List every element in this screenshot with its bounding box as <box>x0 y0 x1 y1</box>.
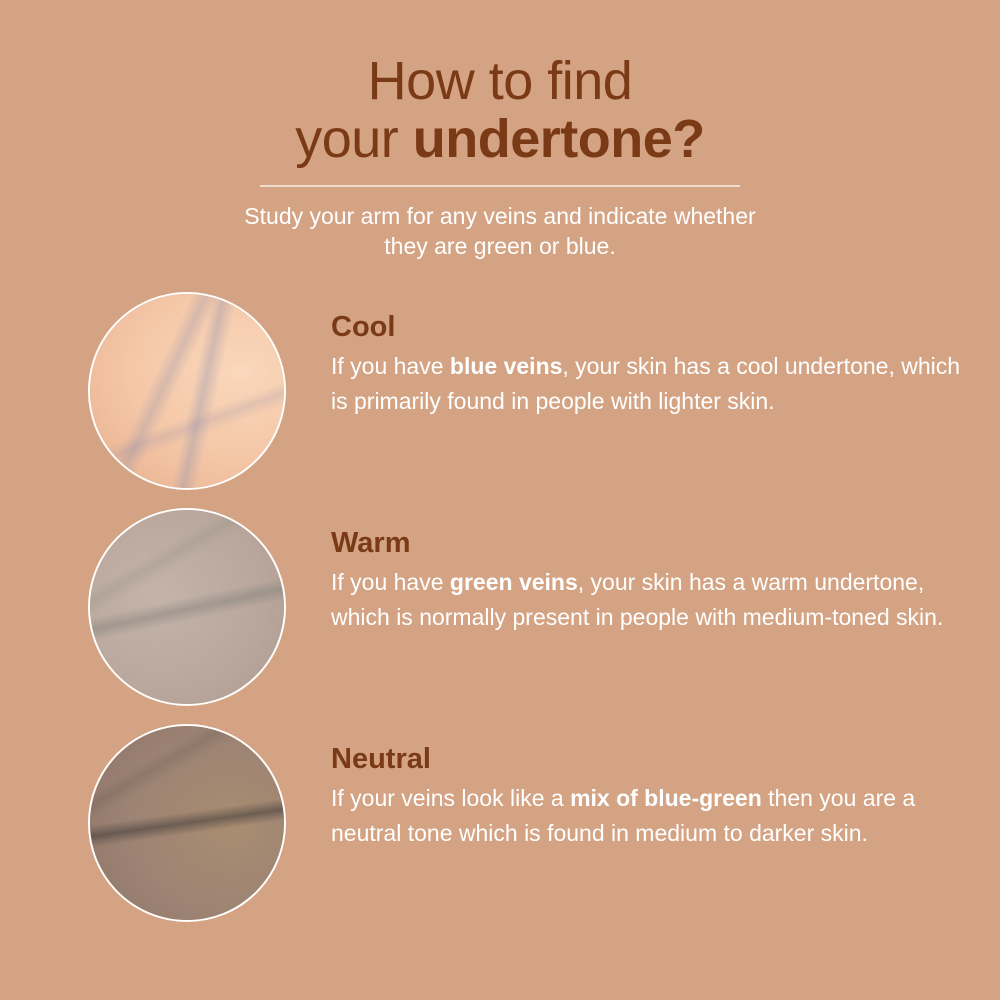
neutral-body-prefix: If your veins look like a <box>331 785 570 811</box>
section-neutral-heading: Neutral <box>331 742 961 777</box>
section-cool-heading: Cool <box>331 310 961 345</box>
skin-swatch-cool <box>88 292 286 490</box>
cool-vein-photo <box>90 294 284 488</box>
section-neutral-text: Neutral If your veins look like a mix of… <box>286 724 961 851</box>
section-neutral-body: If your veins look like a mix of blue-gr… <box>331 781 961 851</box>
page-title-emphasis: undertone? <box>413 109 705 169</box>
page-title-regular: your <box>295 109 413 169</box>
page-title: How to find your undertone? <box>0 52 1000 169</box>
page-subtitle-line-1: Study your arm for any veins and indicat… <box>160 201 840 232</box>
section-warm: Warm If you have green veins, your skin … <box>0 508 1000 708</box>
section-cool-body: If you have blue veins, your skin has a … <box>331 349 961 419</box>
undertone-sections: Cool If you have blue veins, your skin h… <box>0 292 1000 924</box>
section-warm-text: Warm If you have green veins, your skin … <box>286 508 961 635</box>
cool-body-prefix: If you have <box>331 353 450 379</box>
header: How to find your undertone? Study your a… <box>0 0 1000 262</box>
section-warm-body: If you have green veins, your skin has a… <box>331 565 961 635</box>
skin-swatch-neutral <box>88 724 286 922</box>
neutral-vein-photo <box>90 726 284 920</box>
section-cool: Cool If you have blue veins, your skin h… <box>0 292 1000 492</box>
section-cool-text: Cool If you have blue veins, your skin h… <box>286 292 961 419</box>
warm-body-emphasis: green veins <box>450 569 578 595</box>
page-subtitle: Study your arm for any veins and indicat… <box>160 201 840 262</box>
page-subtitle-line-2: they are green or blue. <box>160 231 840 262</box>
warm-body-prefix: If you have <box>331 569 450 595</box>
page-title-line-2: your undertone? <box>0 110 1000 168</box>
cool-body-emphasis: blue veins <box>450 353 562 379</box>
page-title-line-1: How to find <box>0 52 1000 110</box>
skin-swatch-warm <box>88 508 286 706</box>
section-warm-heading: Warm <box>331 526 961 561</box>
title-divider <box>260 185 740 187</box>
warm-vein-photo <box>90 510 284 704</box>
neutral-body-emphasis: mix of blue-green <box>570 785 762 811</box>
section-neutral: Neutral If your veins look like a mix of… <box>0 724 1000 924</box>
